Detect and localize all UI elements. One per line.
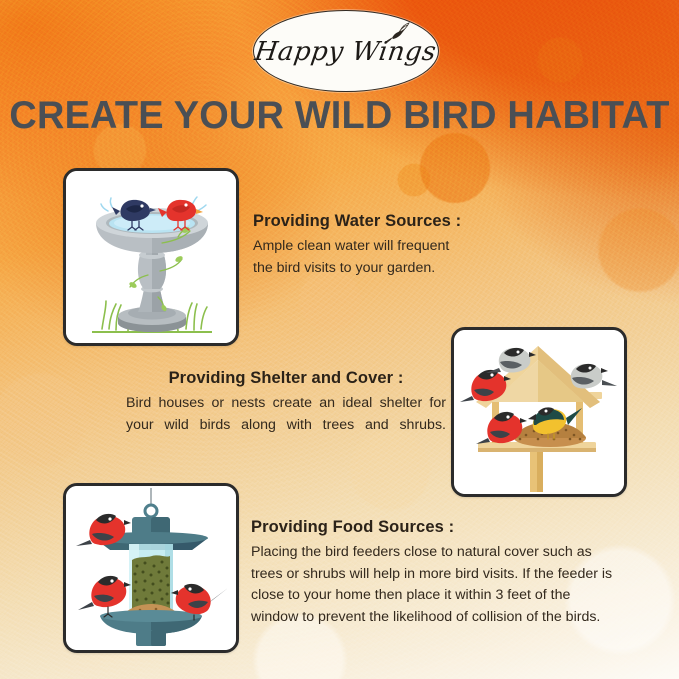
section-water-heading: Providing Water Sources : xyxy=(253,212,478,231)
section-food-heading: Providing Food Sources : xyxy=(251,518,626,537)
section-food-body: Placing the bird feeders close to natura… xyxy=(251,542,626,628)
page-title: CREATE YOUR WILD BIRD HABITAT xyxy=(5,97,674,136)
section-water-body: Ample clean water will frequentthe bird … xyxy=(253,236,478,279)
section-food: Providing Food Sources : Placing the bir… xyxy=(251,518,626,628)
brand-name: Happy Wings xyxy=(253,37,438,67)
tube-feeder-illustration xyxy=(63,483,239,653)
section-shelter-heading: Providing Shelter and Cover : xyxy=(126,369,446,388)
bird-house-graphic xyxy=(454,330,624,494)
brand-logo: Happy Wings xyxy=(253,10,439,92)
section-shelter-body: Bird houses or nests create an ideal she… xyxy=(126,393,446,436)
section-water: Providing Water Sources : Ample clean wa… xyxy=(253,212,478,279)
bird-bath-illustration xyxy=(63,168,239,346)
bird-bath-graphic xyxy=(66,171,236,343)
section-shelter: Providing Shelter and Cover : Bird house… xyxy=(126,369,446,436)
poster-canvas: Happy Wings CREATE YOUR WILD BIRD HABITA… xyxy=(0,0,679,679)
bird-house-illustration xyxy=(451,327,627,497)
hummingbird-icon xyxy=(380,22,410,46)
tube-feeder-graphic xyxy=(66,486,236,650)
